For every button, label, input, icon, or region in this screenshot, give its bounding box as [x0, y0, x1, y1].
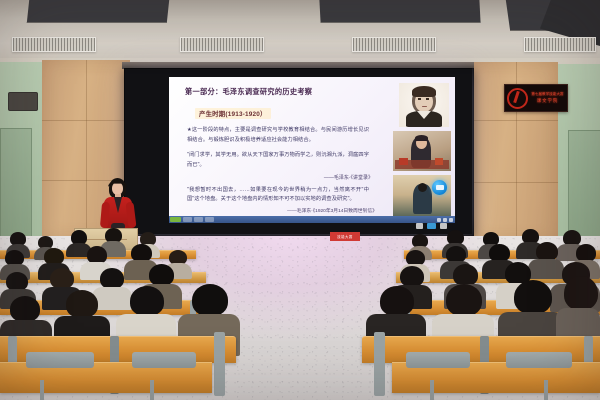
university-logo-icon — [507, 88, 528, 109]
windows-taskbar[interactable] — [169, 216, 455, 223]
air-vent — [12, 37, 96, 52]
led-line-1: 第七届教学技能大赛 — [531, 92, 563, 96]
desk-leg — [544, 380, 548, 400]
taskbar-item[interactable] — [194, 217, 203, 222]
slide-subtitle: 产生时期(1913-1920） — [195, 108, 271, 119]
slide-quote-2: "我想暂时不出国去，……如果要在现今的世界稍为一点力，当然离不开"中国"这个地盘… — [187, 186, 369, 205]
start-button[interactable] — [170, 217, 181, 222]
chair-back — [406, 352, 470, 368]
led-sign: 第七届教学技能大赛 课文学院 — [504, 84, 568, 112]
red-banner: 技能大赛 — [330, 232, 360, 241]
taskbar-item[interactable] — [183, 217, 192, 222]
tencent-meeting-icon[interactable] — [432, 180, 447, 195]
mao-meeting-photo — [393, 131, 451, 171]
slide-quote-1: "闭门求学，其学无用。欲从天下国家万事万物而学之，则沅湘九派，洞庭四字而已"。 — [187, 151, 369, 170]
desk-leg — [150, 380, 154, 400]
tray-icon-active[interactable] — [427, 223, 436, 229]
ceiling — [0, 0, 600, 62]
led-line-2: 课文学院 — [529, 98, 566, 105]
desk-frame — [214, 332, 225, 396]
desk-leg — [40, 380, 44, 400]
projection-screen: 第一部分：毛泽东调查研究的历史考察 产生时期(1913-1920） ★这一阶段的… — [124, 68, 474, 236]
mao-portrait-image — [399, 83, 449, 127]
desk-leg — [430, 380, 434, 400]
ceiling-panel — [319, 0, 480, 23]
chair-back — [506, 352, 572, 368]
air-vent — [352, 37, 436, 52]
presentation-slide: 第一部分：毛泽东调查研究的历史考察 产生时期(1913-1920） ★这一阶段的… — [169, 77, 455, 223]
chair-back — [132, 352, 196, 368]
taskbar-item[interactable] — [205, 217, 214, 222]
chair-back — [26, 352, 94, 368]
slide-citation-2: ——毛泽东·《1920年3月14日致周世钊信》 — [187, 207, 377, 214]
air-vent — [524, 37, 596, 52]
ceiling-panel — [27, 0, 169, 23]
tray-icon[interactable] — [416, 223, 423, 229]
led-sign-text: 第七届教学技能大赛 课文学院 — [528, 92, 567, 105]
lecture-hall-photo: 第七届教学技能大赛 课文学院 第一部分：毛泽东调查研究的历史考察 产生时期(19… — [0, 0, 600, 400]
right-door — [568, 130, 600, 242]
wall-speaker — [8, 92, 38, 111]
left-door — [0, 128, 32, 242]
slide-citation-1: ——毛泽东·《讲堂录》 — [187, 174, 373, 181]
tray-icon[interactable] — [440, 223, 447, 229]
desk-frame — [374, 332, 385, 396]
slide-body-text: ★这一阶段的特点，主要是调查研究与学校教育相结合。与民间游历增长见识相结合。与锻… — [187, 126, 369, 145]
system-tray[interactable] — [416, 221, 468, 230]
air-vent — [180, 37, 264, 52]
